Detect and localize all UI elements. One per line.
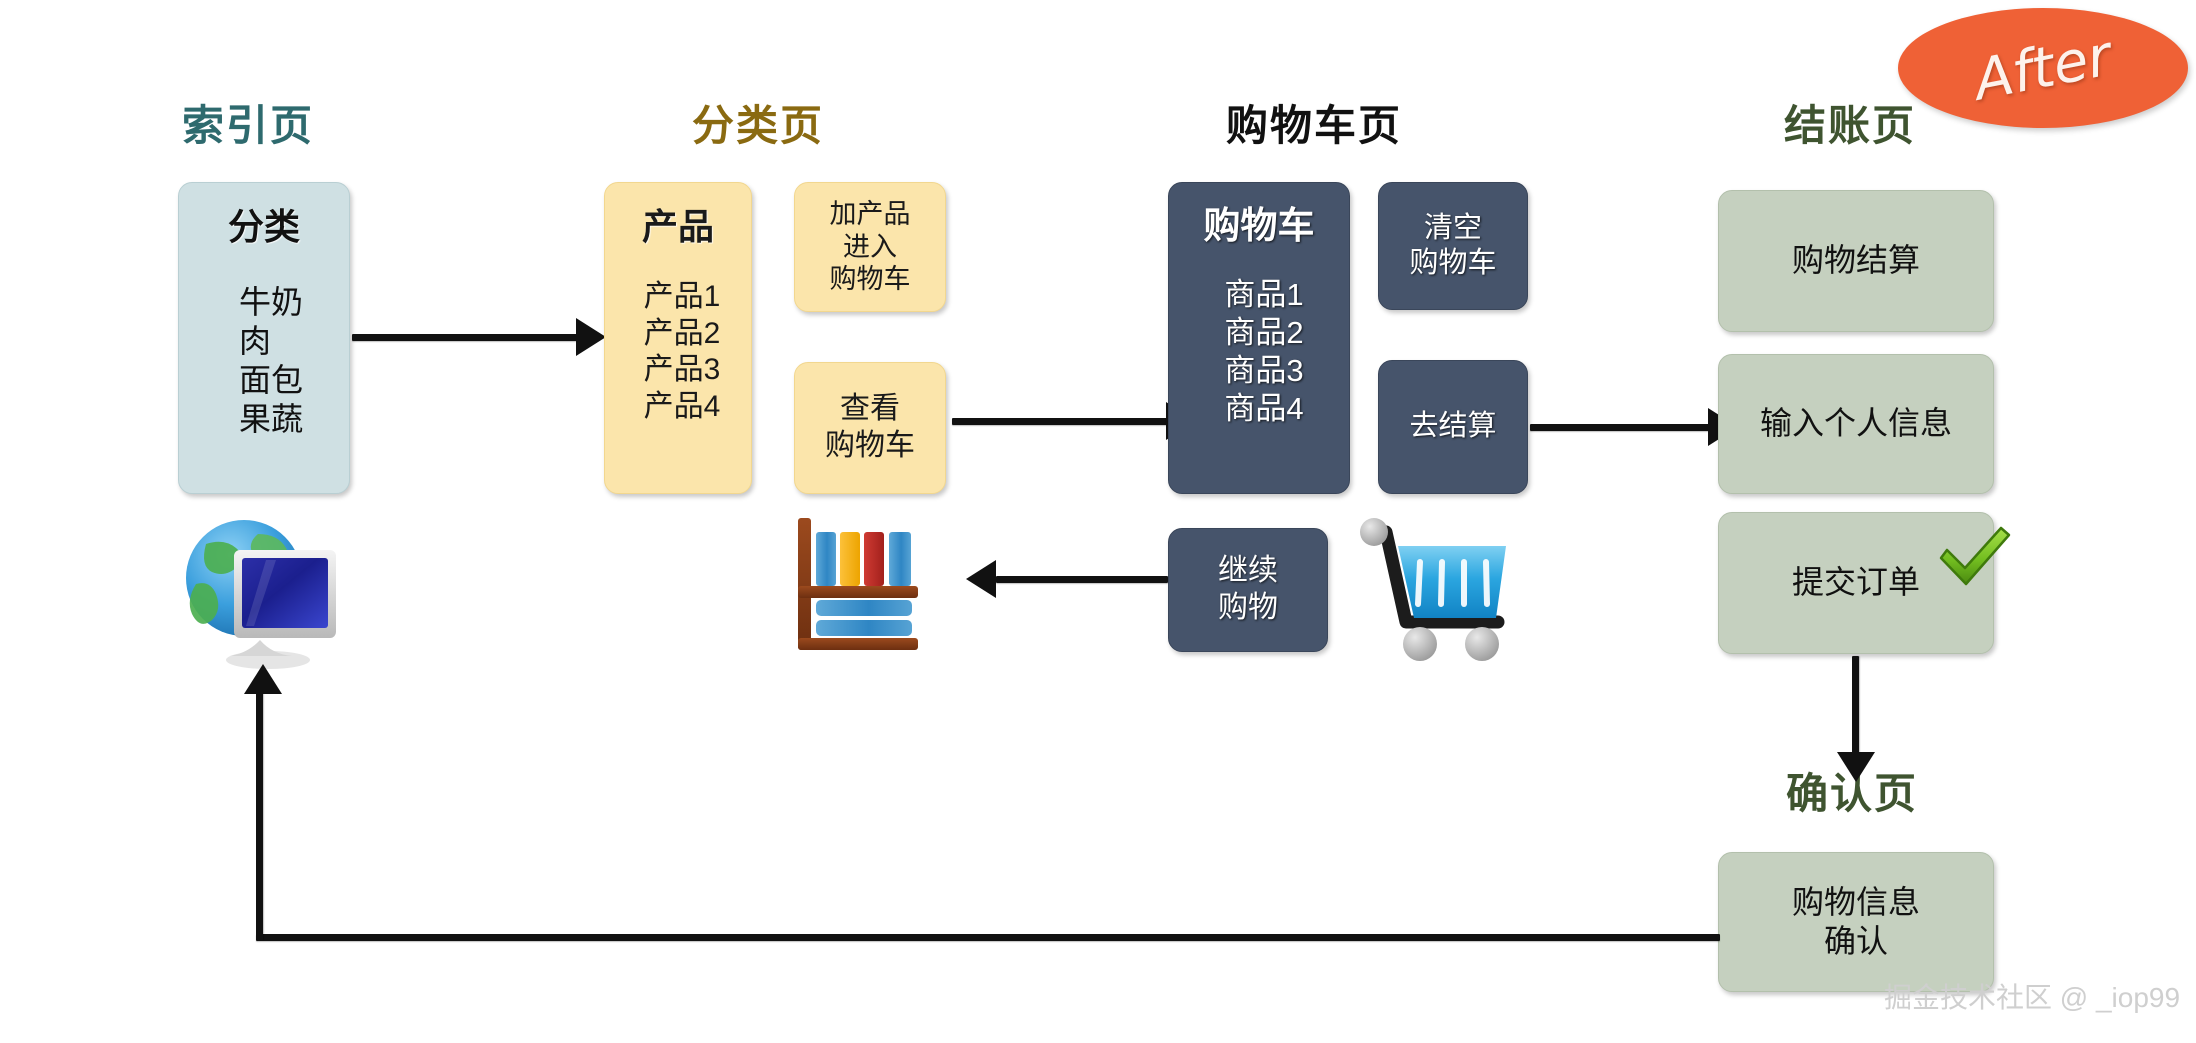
clear-cart-line: 清空 [1424,211,1482,246]
column-title-index: 索引页 [182,92,314,153]
info-confirm-box[interactable]: 购物信息 确认 [1718,852,1994,992]
watermark: 掘金技术社区 @ _iop99 [1884,976,2180,1016]
continue-shopping-line: 继续 [1218,553,1278,590]
column-title-cart: 购物车页 [1226,92,1402,153]
index-item[interactable]: 牛奶 [239,283,303,322]
connector-viewcart-to-cart [952,418,1168,425]
connector-confirm-return-horizontal [256,934,1720,941]
product-item[interactable]: 产品3 [644,352,721,389]
after-badge-label: After [1969,23,2116,113]
product-item[interactable]: 产品4 [644,389,721,426]
add-to-cart-button[interactable]: 加产品 进入 购物车 [794,182,946,312]
product-item[interactable]: 产品1 [644,279,721,316]
arrow-return-to-index [244,664,282,694]
globe-monitor-icon [172,512,348,672]
connector-index-to-category [352,334,578,341]
view-cart-line: 购物车 [825,428,915,465]
go-checkout-button[interactable]: 去结算 [1378,360,1528,494]
add-to-cart-line: 加产品 [830,198,911,231]
cart-item[interactable]: 商品4 [1224,390,1303,428]
add-to-cart-line: 进入 [843,231,897,264]
cart-box-title: 购物车 [1204,203,1315,248]
settle-box[interactable]: 购物结算 [1718,190,1994,332]
category-product-box-title: 产品 [642,205,714,249]
bookshelf-icon [790,512,942,656]
column-title-category: 分类页 [692,92,824,153]
connector-confirm-return-vertical [256,692,263,940]
continue-shopping-line: 购物 [1218,590,1278,627]
cart-item[interactable]: 商品2 [1224,314,1303,352]
index-item[interactable]: 肉 [239,322,271,361]
index-category-box[interactable]: 分类 牛奶 肉 面包 果蔬 [178,182,350,494]
connector-submit-to-confirm [1852,656,1859,760]
arrow-index-to-category [576,318,606,356]
arrow-submit-to-confirm [1837,752,1875,782]
settle-box-label: 购物结算 [1792,241,1920,280]
cart-item[interactable]: 商品1 [1224,276,1303,314]
go-checkout-label: 去结算 [1409,409,1496,444]
connector-continue-to-shelf [996,576,1168,583]
cart-box[interactable]: 购物车 商品1 商品2 商品3 商品4 [1168,182,1350,494]
info-confirm-line: 购物信息 [1792,883,1920,922]
view-cart-button[interactable]: 查看 购物车 [794,362,946,494]
category-product-box[interactable]: 产品 产品1 产品2 产品3 产品4 [604,182,752,494]
info-confirm-line: 确认 [1824,922,1888,961]
clear-cart-button[interactable]: 清空 购物车 [1378,182,1528,310]
product-item[interactable]: 产品2 [644,316,721,353]
index-item[interactable]: 果蔬 [239,400,303,439]
cart-item[interactable]: 商品3 [1224,352,1303,390]
view-cart-line: 查看 [840,391,900,428]
shopping-cart-icon [1358,518,1518,664]
continue-shopping-button[interactable]: 继续 购物 [1168,528,1328,652]
personal-info-label: 输入个人信息 [1760,404,1952,443]
green-check-icon [1935,522,2015,596]
personal-info-box[interactable]: 输入个人信息 [1718,354,1994,494]
diagram-canvas: After 索引页 分类页 购物车页 结账页 确认页 分类 牛奶 肉 面包 果蔬 [0,0,2196,1043]
clear-cart-line: 购物车 [1409,246,1496,281]
column-title-checkout: 结账页 [1784,92,1916,153]
after-badge: After [1898,8,2188,128]
index-category-box-title: 分类 [228,205,300,249]
add-to-cart-line: 购物车 [830,263,911,296]
arrow-continue-to-shelf [966,560,996,598]
submit-order-label: 提交订单 [1792,563,1920,602]
index-item[interactable]: 面包 [239,361,303,400]
connector-checkout-to-personalinfo [1530,424,1710,431]
